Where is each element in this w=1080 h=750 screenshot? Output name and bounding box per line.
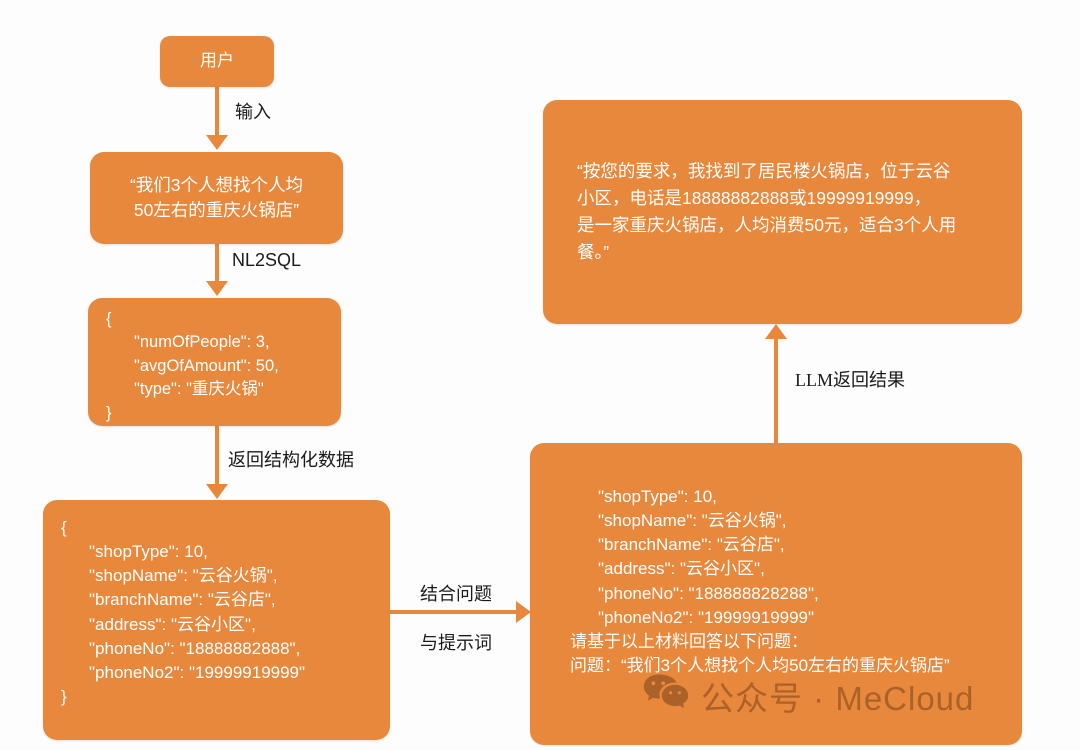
json-field: "shopName": "云谷火锅", <box>570 509 1022 533</box>
diagram-canvas: 输入 NL2SQL 返回结构化数据 结合问题 与提示词 LLM返回结果 用户 “… <box>0 0 1080 750</box>
json-open-brace: { <box>106 308 341 331</box>
arrowhead-question-to-json <box>206 281 228 296</box>
answer-line-3: 是一家重庆火锅店，人均消费50元，适合3个人用 <box>577 212 998 239</box>
json-close-brace: } <box>106 402 341 425</box>
connector-prompt-to-answer <box>774 338 778 444</box>
json-field: "phoneNo": "18888882888", <box>61 637 390 661</box>
json-field: "branchName": "云谷店", <box>61 588 390 612</box>
json-field: "type": "重庆火锅" <box>106 378 341 401</box>
json-open-brace: { <box>61 516 390 540</box>
edge-label-line-2: 与提示词 <box>420 633 492 653</box>
prompt-question: 问题：“我们3个人想找个人均50左右的重庆火锅店” <box>570 654 1022 678</box>
json-field: "address": "云谷小区", <box>61 613 390 637</box>
answer-line-2: 小区，电话是18888882888或19999919999， <box>577 185 998 212</box>
json-field: "shopType": 10, <box>61 540 390 564</box>
node-user[interactable]: 用户 <box>160 36 274 87</box>
json-field: "branchName": "云谷店", <box>570 533 1022 557</box>
json-close-brace: } <box>61 685 390 709</box>
json-field: "numOfPeople": 3, <box>106 331 341 354</box>
node-user-question[interactable]: “我们3个人想找个人均 50左右的重庆火锅店” <box>90 152 343 244</box>
node-nl2sql-json[interactable]: { "numOfPeople": 3, "avgOfAmount": 50, "… <box>88 298 341 426</box>
node-database-result-json[interactable]: { "shopType": 10, "shopName": "云谷火锅", "b… <box>43 500 390 740</box>
arrowhead-db-to-prompt <box>516 601 531 623</box>
node-llm-prompt[interactable]: "shopType": 10, "shopName": "云谷火锅", "bra… <box>530 443 1022 745</box>
json-field: "phoneNo2": "19999919999" <box>61 661 390 685</box>
node-llm-answer[interactable]: “按您的要求，我找到了居民楼火锅店，位于云谷 小区，电话是18888882888… <box>543 100 1022 324</box>
node-question-line-2: 50左右的重庆火锅店” <box>134 198 299 223</box>
json-field: "phoneNo": "188888828288", <box>570 582 1022 606</box>
json-field: "phoneNo2": "19999919999" <box>570 606 1022 630</box>
json-field: "avgOfAmount": 50, <box>106 355 341 378</box>
prompt-instruction: 请基于以上材料回答以下问题： <box>570 630 1022 654</box>
arrowhead-user-to-question <box>206 135 228 150</box>
edge-label-nl2sql: NL2SQL <box>232 248 301 272</box>
json-field: "address": "云谷小区", <box>570 557 1022 581</box>
node-question-line-1: “我们3个人想找个人均 <box>130 173 303 198</box>
connector-json-to-db <box>215 426 219 486</box>
connector-question-to-json <box>215 244 219 284</box>
json-field: "shopName": "云谷火锅", <box>61 564 390 588</box>
edge-label-input: 输入 <box>235 100 271 124</box>
edge-label-llm-returns-result: LLM返回结果 <box>795 368 905 392</box>
edge-label-return-structured-data: 返回结构化数据 <box>228 448 354 472</box>
connector-user-to-question <box>215 87 219 137</box>
arrowhead-prompt-to-answer <box>765 324 787 339</box>
answer-line-4: 餐。” <box>577 239 998 266</box>
edge-label-line-1: 结合问题 <box>420 584 492 604</box>
arrowhead-json-to-db <box>206 484 228 499</box>
edge-label-combine-question-and-prompt: 结合问题 与提示词 <box>402 558 492 679</box>
answer-line-1: “按您的要求，我找到了居民楼火锅店，位于云谷 <box>577 158 998 185</box>
node-user-label: 用户 <box>200 49 234 73</box>
json-field: "shopType": 10, <box>570 485 1022 509</box>
